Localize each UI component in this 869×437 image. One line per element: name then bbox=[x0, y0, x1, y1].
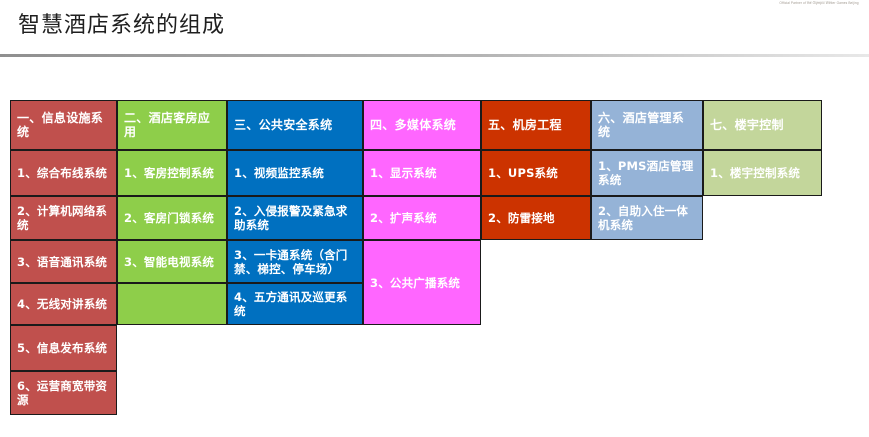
subsystem-cell-7-1[interactable]: 1、楼宇控制系统 bbox=[703, 150, 822, 196]
subsystem-label: 5、信息发布系统 bbox=[17, 341, 107, 355]
watermark-line-2: Official Partner of the Olympic Winter G… bbox=[775, 3, 863, 5]
system-composition-table: 一、信息设施系统1、综合布线系统2、计算机网络系统3、语音通讯系统4、无线对讲系… bbox=[10, 100, 822, 416]
category-header-1[interactable]: 一、信息设施系统 bbox=[10, 100, 117, 150]
subsystem-label: 1、显示系统 bbox=[370, 166, 437, 180]
subsystem-label: 2、计算机网络系统 bbox=[17, 204, 110, 232]
watermark: — — — — — — — — Official Partner of the … bbox=[775, 1, 863, 5]
subsystem-cell-2-2[interactable]: 2、客房门锁系统 bbox=[117, 196, 227, 240]
subsystem-cell-6-2[interactable]: 2、自助入住一体机系统 bbox=[591, 196, 703, 240]
subsystem-label: 2、扩声系统 bbox=[370, 211, 437, 225]
category-header-6[interactable]: 六、酒店管理系统 bbox=[591, 100, 703, 150]
category-header-label: 七、楼宇控制 bbox=[710, 118, 784, 132]
subsystem-label: 1、视频监控系统 bbox=[234, 166, 324, 180]
subsystem-label: 6、运营商宽带资源 bbox=[17, 379, 110, 407]
subsystem-cell-3-3[interactable]: 3、一卡通系统（含门禁、梯控、停车场） bbox=[227, 240, 363, 283]
category-header-label: 三、公共安全系统 bbox=[234, 118, 332, 132]
category-header-label: 六、酒店管理系统 bbox=[598, 111, 696, 139]
subsystem-cell-5-1[interactable]: 1、UPS系统 bbox=[481, 150, 591, 196]
page-title: 智慧酒店系统的组成 bbox=[18, 7, 225, 39]
subsystem-cell-1-6[interactable]: 6、运营商宽带资源 bbox=[10, 371, 117, 415]
category-header-label: 五、机房工程 bbox=[488, 118, 562, 132]
subsystem-cell-5-2[interactable]: 2、防雷接地 bbox=[481, 196, 591, 240]
subsystem-cell-3-4[interactable]: 4、五方通讯及巡更系统 bbox=[227, 283, 363, 325]
subsystem-cell-3-1[interactable]: 1、视频监控系统 bbox=[227, 150, 363, 196]
subsystem-cell-1-3[interactable]: 3、语音通讯系统 bbox=[10, 240, 117, 283]
subsystem-label: 4、无线对讲系统 bbox=[17, 297, 107, 311]
subsystem-label: 1、客房控制系统 bbox=[124, 166, 214, 180]
category-header-label: 四、多媒体系统 bbox=[370, 118, 456, 132]
subsystem-label: 2、客房门锁系统 bbox=[124, 211, 214, 225]
subsystem-label: 1、UPS系统 bbox=[488, 166, 558, 180]
category-header-2[interactable]: 二、酒店客房应用 bbox=[117, 100, 227, 150]
subsystem-cell-3-2[interactable]: 2、入侵报警及紧急求助系统 bbox=[227, 196, 363, 240]
category-header-label: 二、酒店客房应用 bbox=[124, 111, 220, 139]
subsystem-cell-4-2[interactable]: 2、扩声系统 bbox=[363, 196, 481, 240]
subsystem-cell-1-4[interactable]: 4、无线对讲系统 bbox=[10, 283, 117, 325]
subsystem-cell-1-5[interactable]: 5、信息发布系统 bbox=[10, 325, 117, 371]
subsystem-cell-4-3[interactable]: 3、公共广播系统 bbox=[363, 240, 481, 325]
category-header-3[interactable]: 三、公共安全系统 bbox=[227, 100, 363, 150]
subsystem-cell-4-1[interactable]: 1、显示系统 bbox=[363, 150, 481, 196]
subsystem-cell-2-1[interactable]: 1、客房控制系统 bbox=[117, 150, 227, 196]
subsystem-label: 3、公共广播系统 bbox=[370, 276, 460, 290]
subsystem-label: 4、五方通讯及巡更系统 bbox=[234, 290, 356, 318]
subsystem-label: 3、语音通讯系统 bbox=[17, 255, 107, 269]
subsystem-cell-6-1[interactable]: 1、PMS酒店管理系统 bbox=[591, 150, 703, 196]
category-header-label: 一、信息设施系统 bbox=[17, 111, 110, 139]
category-header-7[interactable]: 七、楼宇控制 bbox=[703, 100, 822, 150]
subsystem-label: 1、PMS酒店管理系统 bbox=[598, 159, 696, 187]
subsystem-label: 3、智能电视系统 bbox=[124, 255, 214, 269]
subsystem-label: 2、防雷接地 bbox=[488, 211, 555, 225]
subsystem-cell-2-4[interactable] bbox=[117, 283, 227, 325]
subsystem-label: 1、楼宇控制系统 bbox=[710, 166, 800, 180]
subsystem-label: 3、一卡通系统（含门禁、梯控、停车场） bbox=[234, 248, 356, 276]
subsystem-label: 2、自助入住一体机系统 bbox=[598, 204, 696, 232]
title-divider bbox=[0, 54, 869, 57]
subsystem-cell-2-3[interactable]: 3、智能电视系统 bbox=[117, 240, 227, 283]
subsystem-cell-1-2[interactable]: 2、计算机网络系统 bbox=[10, 196, 117, 240]
subsystem-label: 2、入侵报警及紧急求助系统 bbox=[234, 204, 356, 232]
subsystem-label: 1、综合布线系统 bbox=[17, 166, 107, 180]
category-header-5[interactable]: 五、机房工程 bbox=[481, 100, 591, 150]
category-header-4[interactable]: 四、多媒体系统 bbox=[363, 100, 481, 150]
subsystem-cell-1-1[interactable]: 1、综合布线系统 bbox=[10, 150, 117, 196]
